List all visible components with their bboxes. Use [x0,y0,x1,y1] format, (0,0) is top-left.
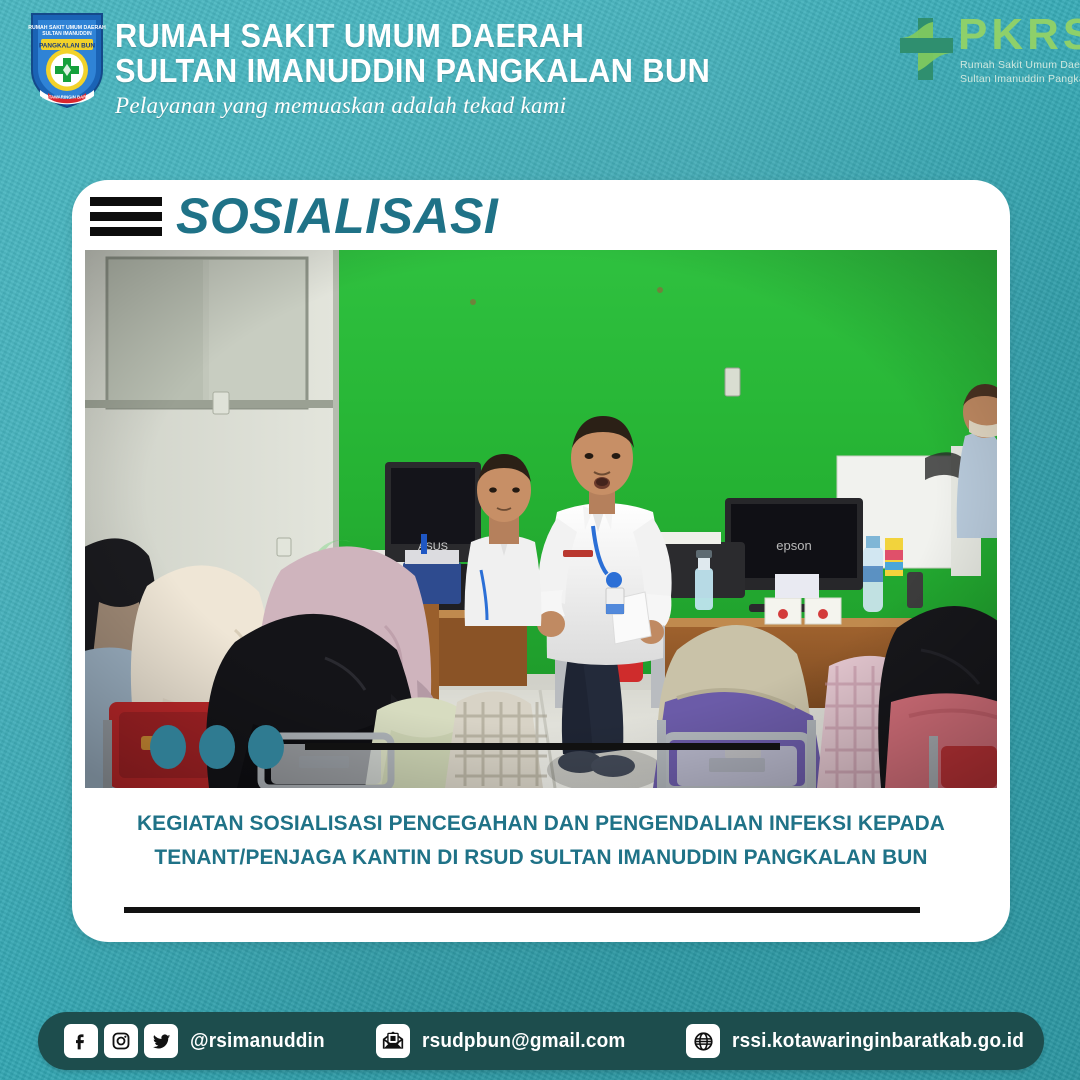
hamburger-menu-icon[interactable] [90,197,162,237]
page-title: SOSIALISASI [176,187,498,245]
pkrs-sub-line2: Sultan Imanuddin Pangkalan Bun [960,73,1080,85]
envelope-icon[interactable] [376,1024,410,1058]
caption-rule-bottom [124,907,920,913]
card-title-row: SOSIALISASI [72,180,1010,250]
footer-bar: @rsimanuddin rsudpbun@gmail.com rssi.kot… [38,1012,1044,1070]
pkrs-sub-line1: Rumah Sakit Umum Daerah [960,59,1080,71]
header-tagline: Pelayanan yang memuaskan adalah tekad ka… [115,93,755,119]
pkrs-logo: PKRS Rumah Sakit Umum Daerah Sultan Iman… [896,14,1080,86]
social-group: @rsimanuddin [64,1012,332,1070]
svg-text:PANGKALAN BUN: PANGKALAN BUN [39,43,95,50]
svg-text:KOTAWARINGIN BARAT: KOTAWARINGIN BARAT [42,95,92,100]
website-text[interactable]: rssi.kotawaringinbaratkab.go.id [732,1030,1024,1053]
decorative-dots [150,725,297,769]
dot-2 [199,725,235,769]
svg-text:SULTAN IMANUDDIN: SULTAN IMANUDDIN [42,31,92,37]
instagram-icon[interactable] [104,1024,138,1058]
pkrs-cross-icon [898,16,958,82]
social-handle[interactable]: @rsimanuddin [190,1030,325,1053]
facebook-icon[interactable] [64,1024,98,1058]
globe-icon[interactable] [686,1024,720,1058]
caption-text: KEGIATAN SOSIALISASI PENCEGAHAN DAN PENG… [96,806,986,874]
pkrs-wordmark: PKRS [958,10,1080,60]
header-title-block: RUMAH SAKIT UMUM DAERAH SULTAN IMANUDDIN… [115,18,755,119]
dot-3 [248,725,284,769]
caption-line-1: KEGIATAN SOSIALISASI PENCEGAHAN DAN PENG… [109,806,972,840]
email-group: rsudpbun@gmail.com [376,1012,636,1070]
activity-photo: ASUS epson [85,250,997,788]
website-group: rssi.kotawaringinbaratkab.go.id [686,1012,1039,1070]
hospital-shield-emblem: RUMAH SAKIT UMUM DAERAH SULTAN IMANUDDIN… [28,10,106,110]
caption-rule-top [305,743,780,750]
header-title-line2: SULTAN IMANUDDIN PANGKALAN BUN [115,53,710,88]
page-header: RUMAH SAKIT UMUM DAERAH SULTAN IMANUDDIN… [0,0,1080,132]
caption-line-2: TENANT/PENJAGA KANTIN DI RSUD SULTAN IMA… [109,840,972,874]
content-card: SOSIALISASI [72,180,1010,942]
header-title-line1: RUMAH SAKIT UMUM DAERAH [115,18,710,53]
twitter-icon[interactable] [144,1024,178,1058]
email-text[interactable]: rsudpbun@gmail.com [422,1030,626,1053]
dot-1 [150,725,186,769]
